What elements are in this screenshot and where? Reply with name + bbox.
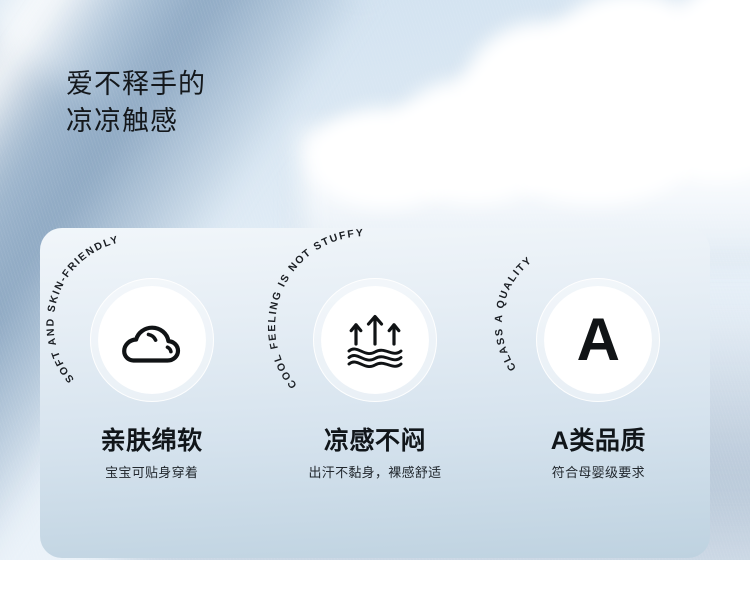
feature-card-quality[interactable]: A CLASS A QUALITY A类品质 符合母婴级要求 bbox=[487, 228, 710, 558]
feature-badge-quality: A CLASS A QUALITY bbox=[523, 265, 673, 415]
badge-arc-label-quality: CLASS A QUALITY bbox=[514, 255, 684, 425]
feature-card-soft[interactable]: SOFT AND SKIN-FRIENDLY 亲肤绵软 宝宝可贴身穿着 bbox=[40, 228, 263, 558]
badge-arc-label-cool: COOL FEELING IS NOT STUFFY bbox=[291, 255, 461, 425]
product-feature-page: 爱不释手的 凉凉触感 bbox=[0, 0, 750, 598]
feature-subtitle-quality: 符合母婴级要求 bbox=[552, 466, 645, 479]
hero-headline: 爱不释手的 凉凉触感 bbox=[66, 66, 206, 140]
feature-badge-cool: COOL FEELING IS NOT STUFFY bbox=[300, 265, 450, 415]
feature-card-cool[interactable]: COOL FEELING IS NOT STUFFY 凉感不闷 出汗不黏身，裸感… bbox=[263, 228, 486, 558]
arc-label-text: CLASS A QUALITY bbox=[493, 254, 535, 373]
feature-title-soft: 亲肤绵软 bbox=[101, 429, 203, 454]
svg-text:SOFT AND SKIN-FRIENDLY: SOFT AND SKIN-FRIENDLY bbox=[44, 234, 120, 385]
arc-label-text: SOFT AND SKIN-FRIENDLY bbox=[44, 234, 120, 385]
feature-title-quality: A类品质 bbox=[551, 429, 646, 454]
feature-subtitle-soft: 宝宝可贴身穿着 bbox=[105, 466, 198, 479]
feature-subtitle-cool: 出汗不黏身，裸感舒适 bbox=[308, 466, 441, 479]
badge-arc-label-soft: SOFT AND SKIN-FRIENDLY bbox=[68, 255, 238, 425]
svg-text:COOL FEELING IS NOT STUFFY: COOL FEELING IS NOT STUFFY bbox=[266, 228, 365, 391]
feature-badge-soft: SOFT AND SKIN-FRIENDLY bbox=[77, 265, 227, 415]
arc-label-text: COOL FEELING IS NOT STUFFY bbox=[266, 228, 365, 391]
svg-text:CLASS A QUALITY: CLASS A QUALITY bbox=[493, 254, 535, 373]
feature-title-cool: 凉感不闷 bbox=[324, 429, 426, 454]
feature-panel: SOFT AND SKIN-FRIENDLY 亲肤绵软 宝宝可贴身穿着 bbox=[40, 228, 710, 558]
